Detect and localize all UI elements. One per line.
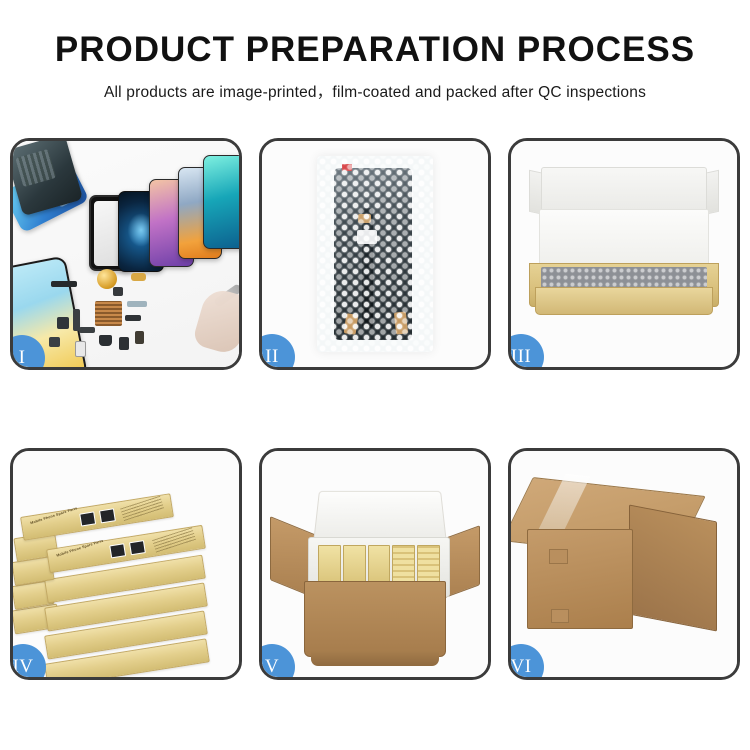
- page-title: PRODUCT PREPARATION PROCESS: [0, 32, 750, 69]
- step-image-2: [262, 141, 488, 367]
- box-spec-lines-back: [120, 496, 164, 522]
- bubble-wrap-bag: [317, 156, 433, 352]
- step-image-3: [511, 141, 737, 367]
- part-connector-strip: [125, 315, 141, 321]
- carton-marking-upper: [549, 549, 568, 564]
- box-artwork-phone-d: [99, 508, 116, 523]
- step-image-1: [13, 141, 239, 367]
- step-panel-1: I: [10, 138, 242, 370]
- box-spec-lines-front: [152, 527, 196, 553]
- page-subtitle: All products are image-printed，film-coat…: [0, 80, 750, 102]
- step-panel-3: III: [508, 138, 740, 370]
- step-panel-6: VI: [508, 448, 740, 680]
- step-panel-2: II: [259, 138, 491, 370]
- step-image-6: [511, 451, 737, 677]
- box-base-front: [535, 287, 713, 315]
- part-camera-module: [57, 317, 69, 329]
- part-charging-port: [119, 337, 129, 350]
- step-panel-4: Mobile Phone Spare Parts Mobile Phone Sp…: [10, 448, 242, 680]
- part-gold-connector: [131, 273, 146, 281]
- open-kraft-box: [529, 167, 719, 317]
- step-image-5: [262, 451, 488, 677]
- speaker-coil-component: [97, 269, 117, 289]
- part-vibrator-motor: [99, 335, 112, 346]
- step-panel-5: V: [259, 448, 491, 680]
- part-sensor-module: [113, 287, 123, 296]
- carton-body: [304, 581, 446, 657]
- part-sim-tray: [75, 341, 86, 357]
- carton-marking-lower: [551, 609, 569, 623]
- carton-side-face: [629, 504, 717, 631]
- steps-grid: I II: [10, 138, 740, 680]
- box-artwork-phone-b: [129, 540, 146, 555]
- part-battery-connector: [135, 331, 144, 344]
- part-ribbon-cable: [127, 301, 147, 307]
- bubble-texture-overlay: [317, 156, 433, 352]
- box-label-text-front: Mobile Phone Spare Parts: [56, 539, 104, 558]
- box-artwork-phone-a: [109, 543, 126, 558]
- teal-gradient-phone: [203, 155, 239, 249]
- part-speaker-mesh: [51, 281, 77, 287]
- box-stack: Mobile Phone Spare Parts Mobile Phone Sp…: [19, 475, 229, 659]
- open-shipping-carton: [272, 473, 478, 647]
- box-artwork-phone-c: [79, 511, 96, 526]
- carton-front-face: [527, 529, 633, 629]
- chip-grid-component: [95, 301, 122, 326]
- part-flex-cable-end: [79, 327, 95, 333]
- box-label-text-back: Mobile Phone Spare Parts: [30, 506, 78, 525]
- product-preparation-infographic: PRODUCT PREPARATION PROCESS All products…: [0, 0, 750, 750]
- header: PRODUCT PREPARATION PROCESS All products…: [0, 0, 750, 102]
- step-image-4: Mobile Phone Spare Parts Mobile Phone Sp…: [13, 451, 239, 677]
- sealed-carton: [527, 477, 723, 647]
- part-small-bracket: [49, 337, 60, 347]
